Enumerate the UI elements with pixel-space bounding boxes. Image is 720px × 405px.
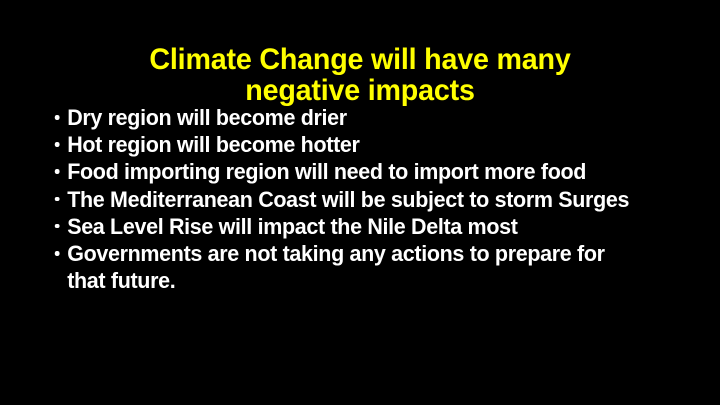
list-item: The Mediterranean Coast will be subject …	[50, 186, 634, 213]
presentation-slide: Climate Change will have many negative i…	[0, 0, 720, 405]
list-item: Governments are not taking any actions t…	[50, 240, 634, 294]
bullet-dot-icon	[55, 169, 59, 174]
bullet-dot-icon	[55, 115, 59, 120]
bullet-dot-icon	[55, 197, 59, 202]
list-item-label: Hot region will become hotter	[67, 131, 634, 158]
bullet-dot-icon	[55, 142, 59, 147]
list-item: Dry region will become drier	[50, 104, 634, 131]
list-item: Sea Level Rise will impact the Nile Delt…	[50, 213, 634, 240]
list-item: Food importing region will need to impor…	[50, 158, 634, 185]
list-item-label: Dry region will become drier	[67, 104, 634, 131]
list-item: Hot region will become hotter	[50, 131, 634, 158]
bullet-dot-icon	[55, 251, 59, 256]
list-item-label: Governments are not taking any actions t…	[67, 240, 634, 294]
bullet-list: Dry region will become drier Hot region …	[50, 104, 662, 294]
list-item-label: Food importing region will need to impor…	[67, 158, 634, 185]
page-title: Climate Change will have many negative i…	[16, 44, 704, 106]
list-item-label: The Mediterranean Coast will be subject …	[67, 186, 634, 213]
bullet-dot-icon	[55, 224, 59, 229]
list-item-label: Sea Level Rise will impact the Nile Delt…	[67, 213, 634, 240]
